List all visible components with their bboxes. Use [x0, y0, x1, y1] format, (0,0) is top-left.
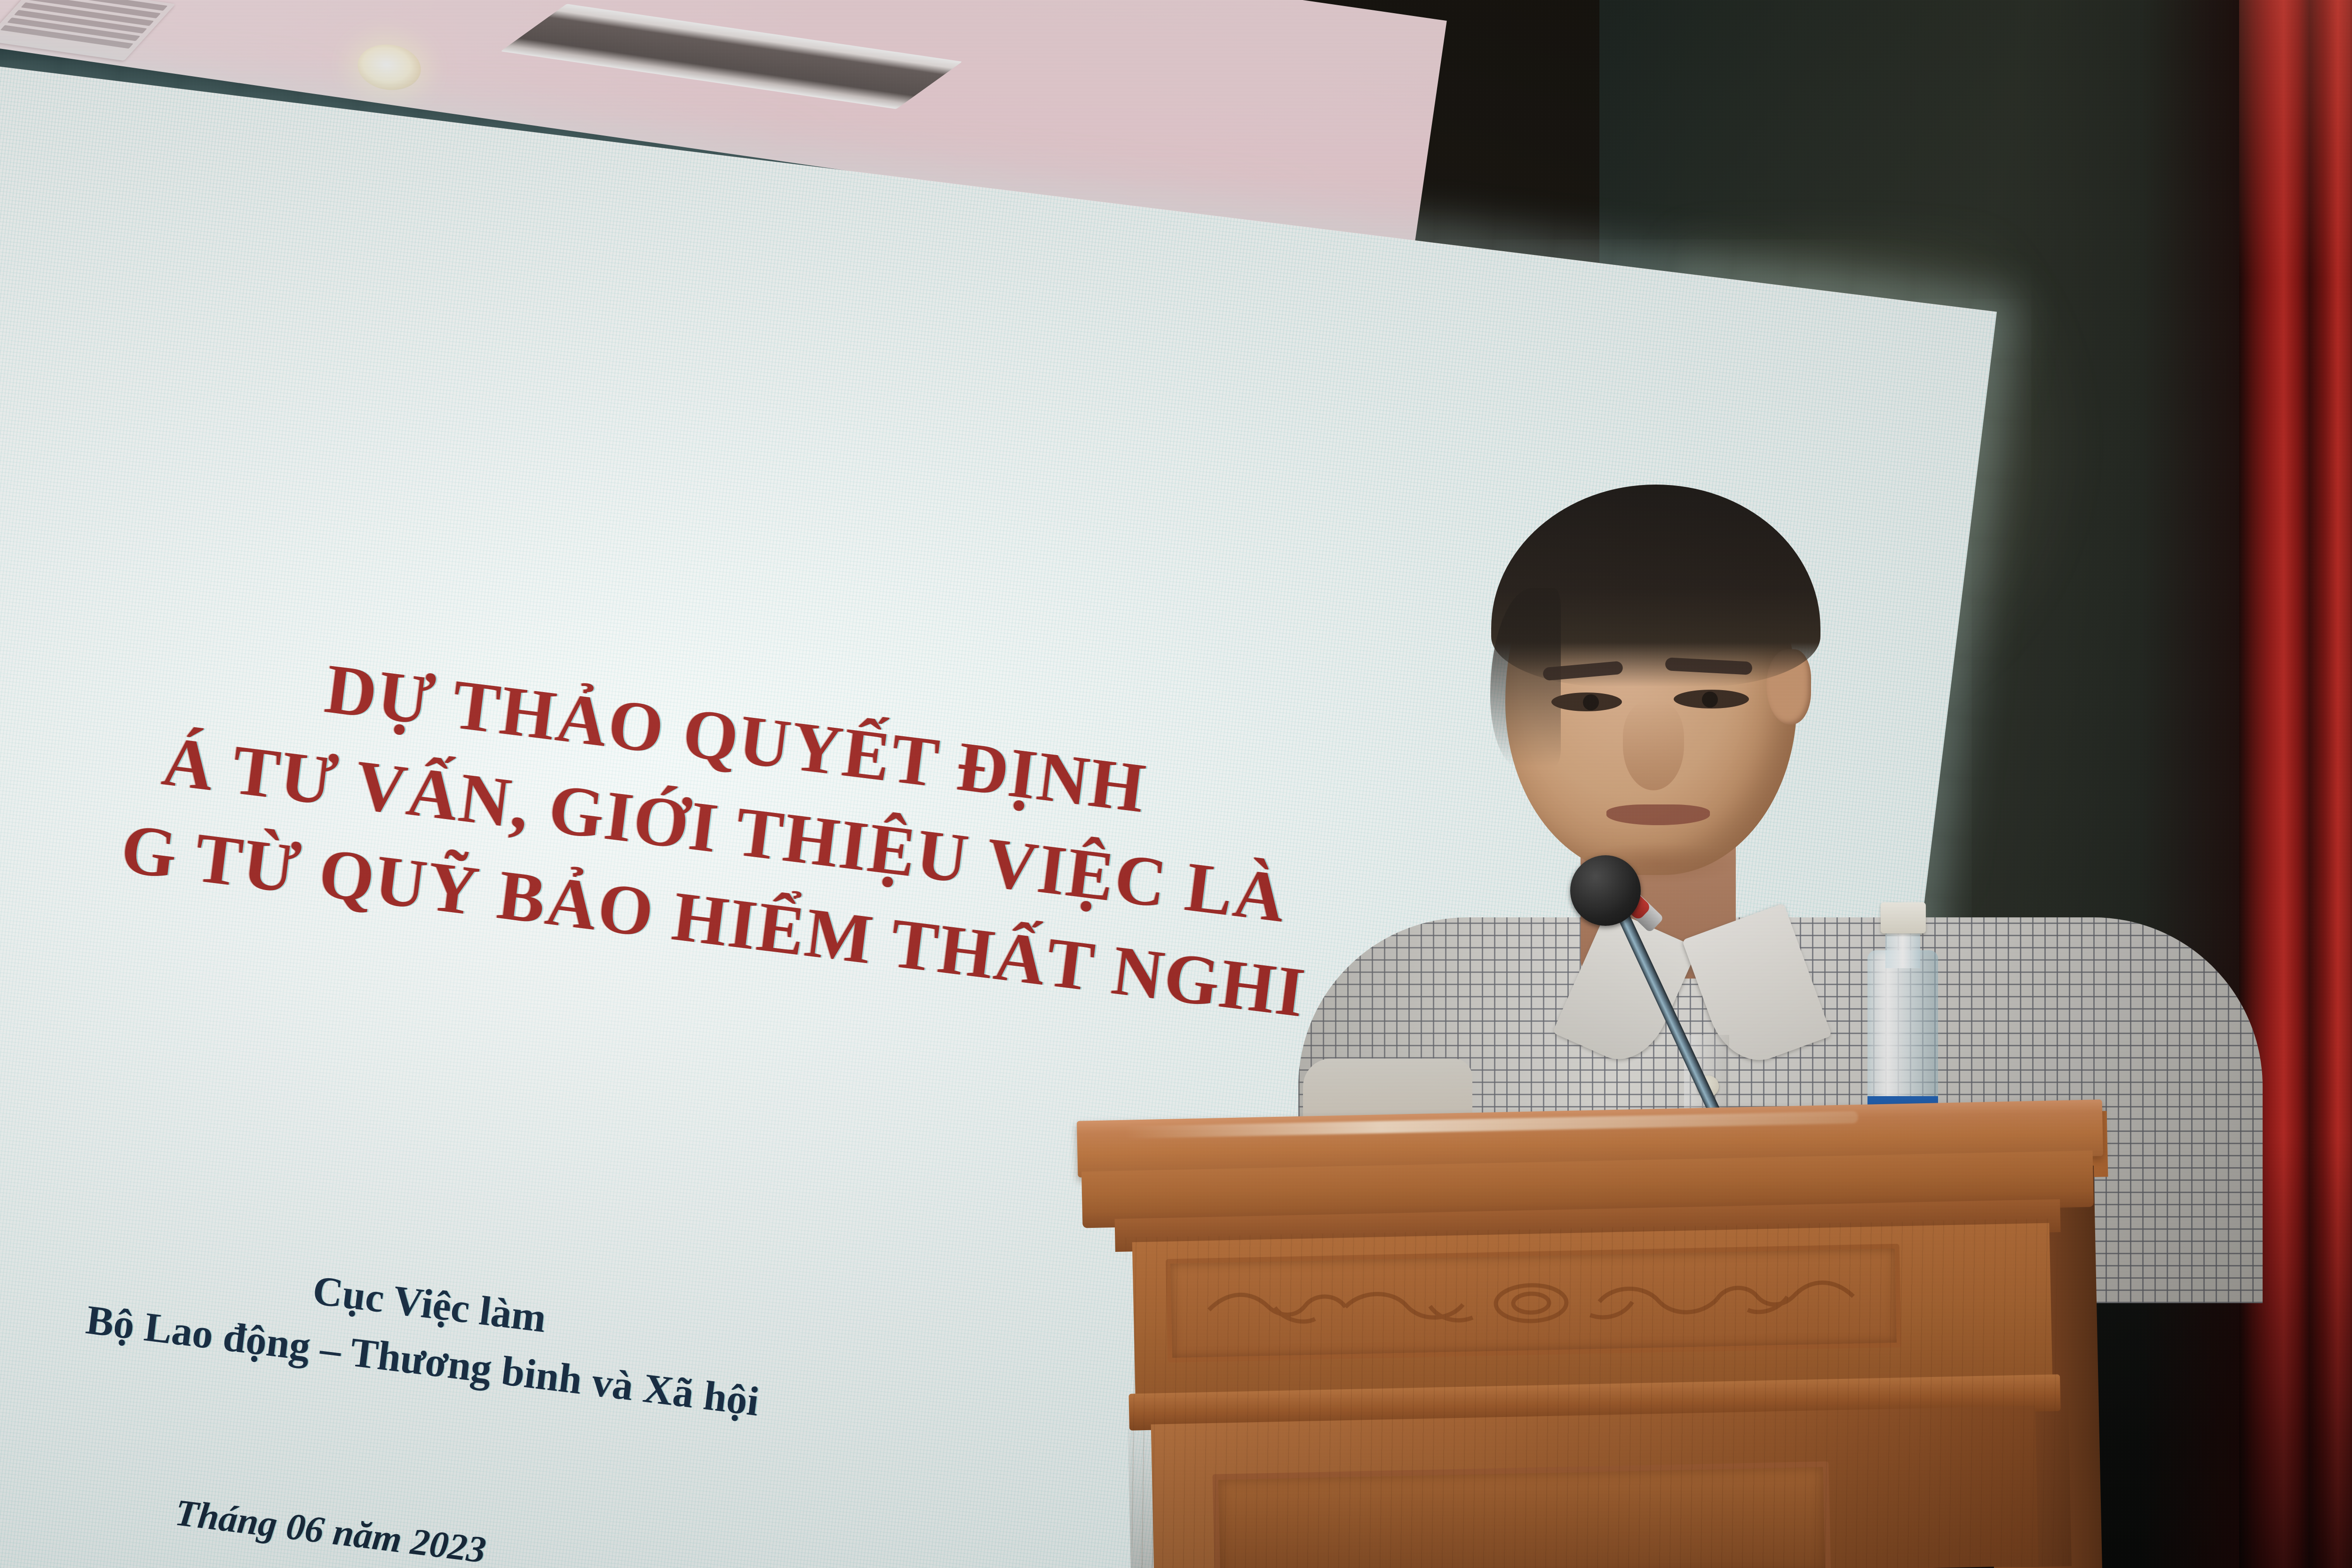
water-bottle-cap: [1881, 902, 1926, 933]
red-curtain-folds: [2239, 0, 2352, 1568]
speaker-nose: [1623, 701, 1684, 790]
podium-lower-panel: [1213, 1461, 1831, 1568]
slide-date: Tháng 06 năm 2023: [0, 1441, 893, 1568]
speaker-pupil-left: [1583, 694, 1599, 710]
water-bottle-neck: [1885, 928, 1920, 968]
slide-organization: Cục Việc làm Bộ Lao động – Thương binh v…: [0, 1199, 1063, 1467]
microphone-windscreen-icon: [1570, 855, 1641, 926]
wooden-podium: [1058, 1096, 2150, 1568]
speaker-mouth: [1606, 804, 1710, 825]
photo-scene: DỰ THẢO QUYẾT ĐỊNH Á TƯ VẤN, GIỚI THIỆU …: [0, 0, 2352, 1568]
speaker-pupil-right: [1702, 692, 1718, 708]
